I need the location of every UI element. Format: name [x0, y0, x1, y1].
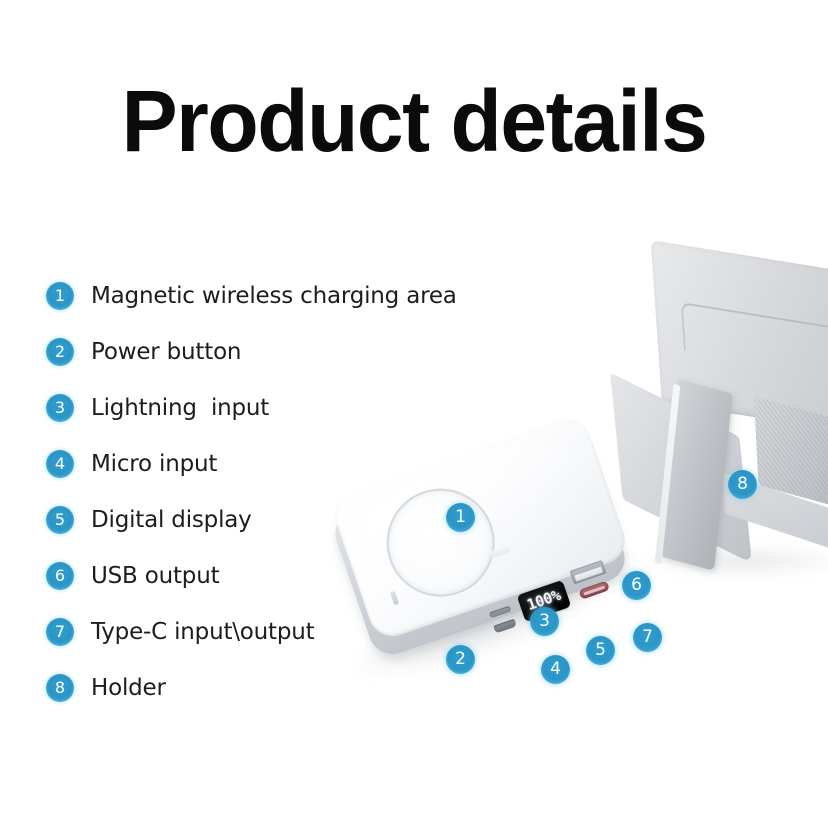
- usb-a-port[interactable]: [570, 560, 607, 584]
- feature-badge-6: 6: [46, 562, 74, 590]
- callout-3-lightning-input: 3: [530, 607, 559, 636]
- callout-2-power-button: 2: [446, 645, 475, 674]
- micro-usb-port[interactable]: [493, 619, 516, 634]
- feature-label-5: Digital display: [91, 502, 252, 538]
- callout-6-usb-output: 6: [622, 571, 651, 600]
- product-details-page: Product details 1 Magnetic wireless char…: [0, 0, 828, 827]
- power-bank-device: 100%: [330, 445, 630, 655]
- feature-label-6: USB output: [91, 558, 219, 594]
- page-title: Product details: [14, 78, 813, 165]
- usb-c-port[interactable]: [578, 580, 610, 599]
- feature-label-4: Micro input: [91, 446, 217, 482]
- feature-label-8: Holder: [91, 670, 166, 706]
- feature-label-2: Power button: [91, 334, 241, 370]
- callout-5-digital-display: 5: [586, 636, 615, 665]
- callout-4-micro-input: 4: [541, 655, 570, 684]
- callout-8-holder: 8: [728, 470, 757, 499]
- feature-label-3: Lightning input: [91, 390, 269, 426]
- feature-badge-5: 5: [46, 506, 74, 534]
- feature-badge-1: 1: [46, 282, 74, 310]
- lightning-port[interactable]: [489, 605, 512, 618]
- callout-1-magnetic-wireless-charging-area: 1: [446, 503, 475, 532]
- callout-7-type-c-input-output: 7: [633, 623, 662, 652]
- feature-badge-4: 4: [46, 450, 74, 478]
- feature-label-7: Type-C input\output: [91, 614, 314, 650]
- holder-stand: [620, 258, 828, 588]
- feature-badge-8: 8: [46, 674, 74, 702]
- feature-badge-3: 3: [46, 394, 74, 422]
- feature-badge-2: 2: [46, 338, 74, 366]
- feature-badge-7: 7: [46, 618, 74, 646]
- product-photo: 100% 1 2 3 4 5 6 7 8: [300, 240, 828, 720]
